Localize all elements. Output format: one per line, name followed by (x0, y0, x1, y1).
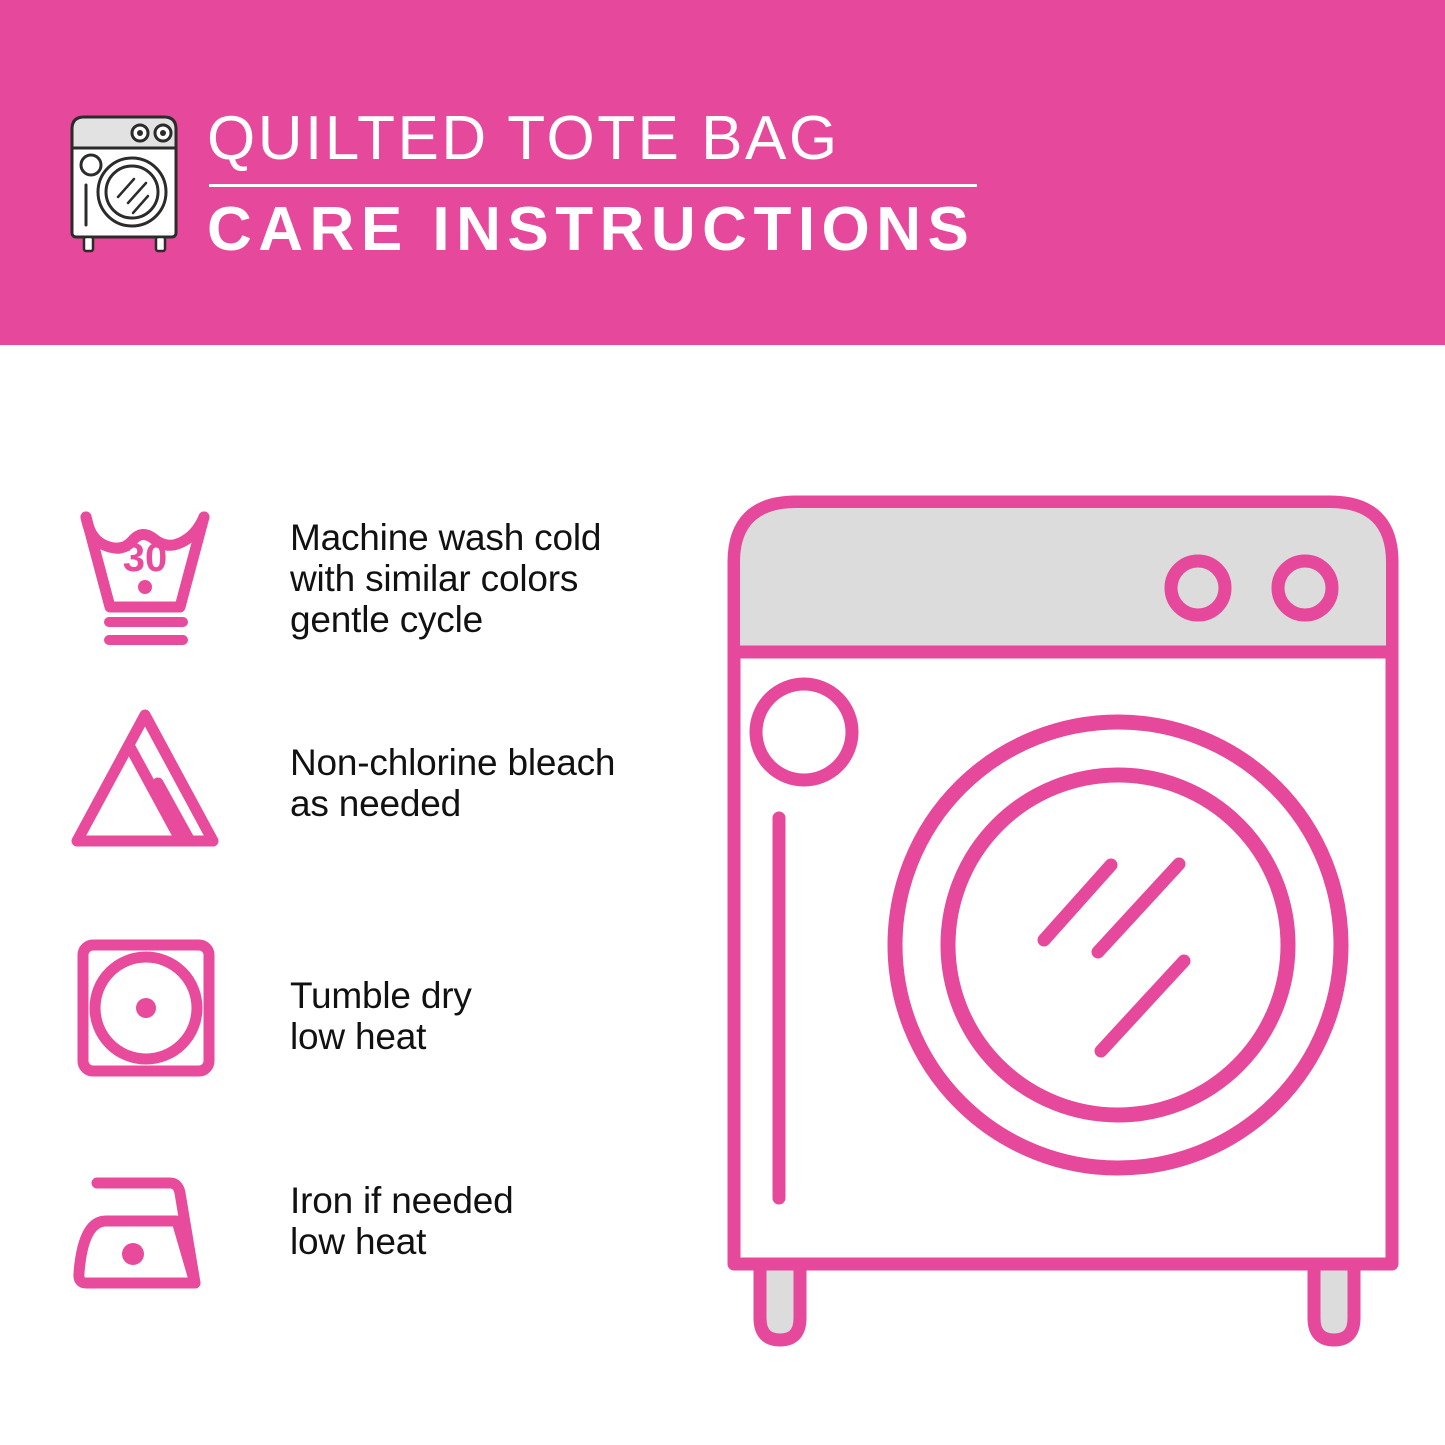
instruction-text-tumble-dry: Tumble dry low heat (290, 975, 472, 1057)
header-divider (209, 184, 977, 187)
instruction-text-wash: Machine wash cold with similar colors ge… (290, 517, 601, 640)
instruction-line: low heat (290, 1016, 472, 1057)
instruction-text-iron: Iron if needed low heat (290, 1180, 513, 1262)
machine-legs (760, 1260, 1354, 1340)
iron-low-heat-icon (70, 1161, 240, 1321)
instruction-text-bleach: Non-chlorine bleach as needed (290, 742, 615, 824)
drum-inner-ring (948, 775, 1288, 1115)
control-knob-2 (1278, 561, 1332, 615)
wash-tub-30-icon: 30 (70, 499, 240, 659)
instruction-line: Iron if needed (290, 1180, 513, 1221)
care-instructions-subtitle: CARE INSTRUCTIONS (207, 196, 987, 264)
product-title: QUILTED TOTE BAG (207, 104, 987, 174)
header-banner: QUILTED TOTE BAG CARE INSTRUCTIONS (0, 0, 1445, 345)
detergent-dispenser-icon (756, 684, 852, 780)
non-chlorine-bleach-triangle-icon (70, 705, 240, 865)
header-text-block: QUILTED TOTE BAG CARE INSTRUCTIONS (207, 104, 987, 264)
wash-temperature-value: 30 (123, 536, 168, 580)
instruction-line: Non-chlorine bleach (290, 742, 615, 783)
instruction-line: Tumble dry (290, 975, 472, 1016)
tumble-dry-low-icon (70, 935, 240, 1095)
care-instructions-infographic: QUILTED TOTE BAG CARE INSTRUCTIONS 30 (0, 0, 1445, 1445)
washing-machine-logo-icon (62, 103, 190, 253)
washing-machine-illustration (718, 480, 1408, 1370)
control-knob-1 (1171, 561, 1225, 615)
instruction-line: low heat (290, 1221, 513, 1262)
instruction-line: with similar colors (290, 558, 601, 599)
instruction-line: gentle cycle (290, 599, 601, 640)
instruction-line: Machine wash cold (290, 517, 601, 558)
instruction-line: as needed (290, 783, 615, 824)
